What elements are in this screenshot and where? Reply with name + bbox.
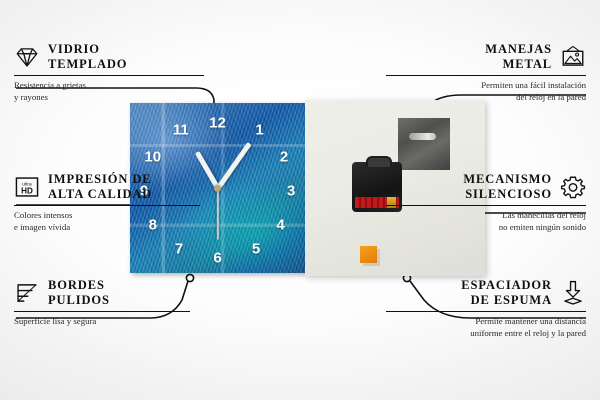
hanger-slot <box>409 133 436 140</box>
feature-bordes-pulidos: BORDESPULIDOS Superficie lisa y segura <box>14 278 214 328</box>
feature-divider <box>14 205 200 207</box>
diamond-icon <box>14 44 40 70</box>
polished-edges-icon <box>14 280 40 306</box>
feature-title: IMPRESIÓN DEALTA CALIDAD <box>48 172 152 202</box>
feature-subtitle: Superficie lisa y segura <box>14 316 214 328</box>
ultra-hd-icon: ultra HD <box>14 174 40 200</box>
feature-divider <box>386 311 586 313</box>
metal-hanger-plate <box>398 118 450 170</box>
movement-hook <box>366 156 392 167</box>
feature-divider <box>14 311 190 313</box>
feature-title: ESPACIADORDE ESPUMA <box>461 278 552 308</box>
feature-title: BORDESPULIDOS <box>48 278 110 308</box>
clock-numeral: 10 <box>144 149 161 166</box>
clock-numeral: 5 <box>252 241 260 258</box>
clock-numeral: 3 <box>287 183 295 200</box>
feature-divider <box>14 75 204 77</box>
clock-numeral: 11 <box>173 122 189 139</box>
feature-title: VIDRIOTEMPLADO <box>48 42 127 72</box>
feature-espaciador-espuma: ESPACIADORDE ESPUMA Permite mantener una… <box>386 278 586 339</box>
feature-subtitle: Permite mantener una distanciauniforme e… <box>386 316 586 339</box>
feature-impresion-alta-calidad: ultra HD IMPRESIÓN DEALTA CALIDAD Colore… <box>14 172 214 233</box>
arrow-down-stack-icon <box>560 280 586 306</box>
clock-numeral: 7 <box>175 241 183 258</box>
foam-spacer <box>360 246 377 263</box>
infographic-canvas: 12 1 2 3 4 5 6 7 8 9 10 11 <box>0 0 600 400</box>
clock-numeral: 1 <box>255 122 263 139</box>
feature-title: MECANISMOSILENCIOSO <box>463 172 552 202</box>
feature-subtitle: Las manecillas del relojno emiten ningún… <box>386 210 586 233</box>
feature-subtitle: Colores intensose imagen vívida <box>14 210 214 233</box>
feature-divider <box>386 205 586 207</box>
feature-subtitle: Resistencia a grietasy rayones <box>14 80 214 103</box>
gear-icon <box>560 174 586 200</box>
feature-mecanismo-silencioso: MECANISMOSILENCIOSO Las manecillas del r… <box>386 172 586 233</box>
clock-second-hand <box>217 188 219 240</box>
clock-numeral: 6 <box>213 249 221 266</box>
clock-numeral: 2 <box>280 149 288 166</box>
feature-subtitle: Permiten una fácil instalacióndel reloj … <box>386 80 586 103</box>
clock-numeral: 12 <box>209 115 226 132</box>
picture-frame-icon <box>560 44 586 70</box>
feature-divider <box>386 75 586 77</box>
feature-title: MANEJASMETAL <box>485 42 552 72</box>
feature-manejas-metal: MANEJASMETAL Permiten una fácil instalac… <box>386 42 586 103</box>
clock-numeral: 4 <box>276 217 284 234</box>
clock-hand-pivot <box>214 185 221 192</box>
svg-text:HD: HD <box>21 186 33 195</box>
clock-minute-hand <box>215 142 251 190</box>
feature-vidrio-templado: VIDRIOTEMPLADO Resistencia a grietasy ra… <box>14 42 214 103</box>
